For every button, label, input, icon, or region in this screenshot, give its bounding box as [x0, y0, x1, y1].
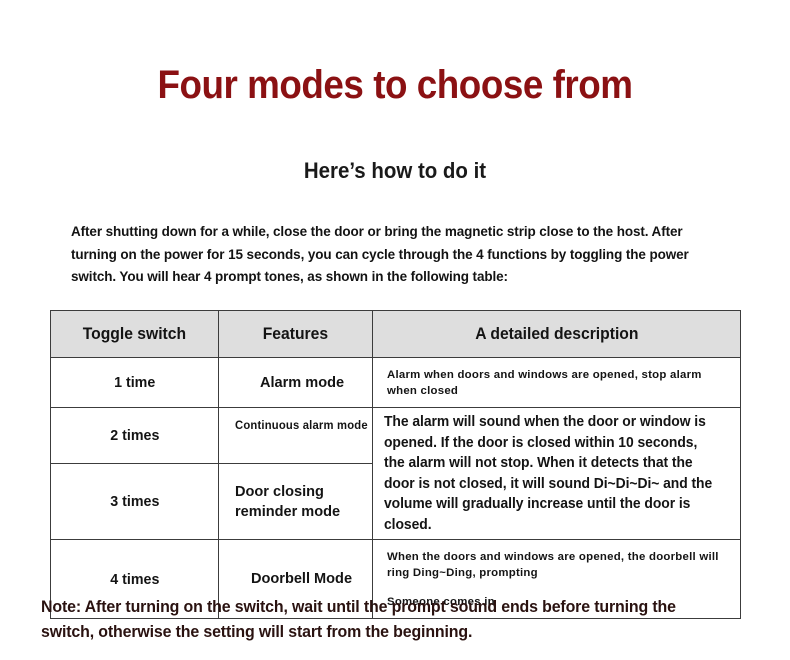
column-header-features-label: Features [263, 325, 328, 344]
document-page: Four modes to choose from Here’s how to … [0, 0, 790, 660]
cell-feature-1: Alarm mode [219, 358, 373, 408]
table-body: 1 time Alarm mode Alarm when doors and w… [51, 358, 741, 619]
column-header-features: Features [219, 311, 373, 358]
cell-description-merged: The alarm will sound when the door or wi… [373, 408, 741, 540]
note-paragraph: Note: After turning on the switch, wait … [41, 594, 723, 644]
page-title: Four modes to choose from [32, 62, 759, 108]
column-header-description: A detailed description [373, 311, 741, 358]
cell-description-1: Alarm when doors and windows are opened,… [373, 358, 741, 408]
cell-description-1-text: Alarm when doors and windows are opened,… [387, 367, 728, 399]
cell-feature-1-label: Alarm mode [260, 373, 344, 393]
page-subtitle: Here’s how to do it [28, 157, 763, 185]
column-header-toggle-switch: Toggle switch [51, 311, 219, 358]
cell-toggle-4-label: 4 times [110, 571, 159, 588]
cell-toggle-1: 1 time [51, 358, 219, 408]
modes-table: Toggle switch Features A detailed descri… [50, 310, 741, 619]
cell-description-4-line1: When the doors and windows are opened, t… [387, 549, 728, 581]
cell-feature-2-label: Continuous alarm mode [235, 417, 368, 435]
cell-feature-3-label: Door closing reminder mode [235, 482, 368, 522]
table-header: Toggle switch Features A detailed descri… [51, 311, 741, 358]
cell-description-merged-text: The alarm will sound when the door or wi… [384, 412, 720, 535]
cell-toggle-2-label: 2 times [110, 427, 159, 444]
cell-toggle-1-label: 1 time [114, 374, 155, 391]
table-row: 2 times Continuous alarm mode The alarm … [51, 408, 741, 464]
cell-feature-3: Door closing reminder mode [219, 464, 373, 540]
intro-paragraph: After shutting down for a while, close t… [71, 221, 698, 289]
cell-toggle-3: 3 times [51, 464, 219, 540]
column-header-description-label: A detailed description [475, 325, 638, 344]
modes-table-container: Toggle switch Features A detailed descri… [50, 310, 740, 619]
table-row: 1 time Alarm mode Alarm when doors and w… [51, 358, 741, 408]
cell-feature-4-label: Doorbell Mode [251, 569, 352, 589]
table-header-row: Toggle switch Features A detailed descri… [51, 311, 741, 358]
cell-toggle-3-label: 3 times [110, 493, 159, 510]
column-header-toggle-switch-label: Toggle switch [83, 325, 186, 344]
cell-feature-2: Continuous alarm mode [219, 408, 373, 464]
cell-toggle-2: 2 times [51, 408, 219, 464]
